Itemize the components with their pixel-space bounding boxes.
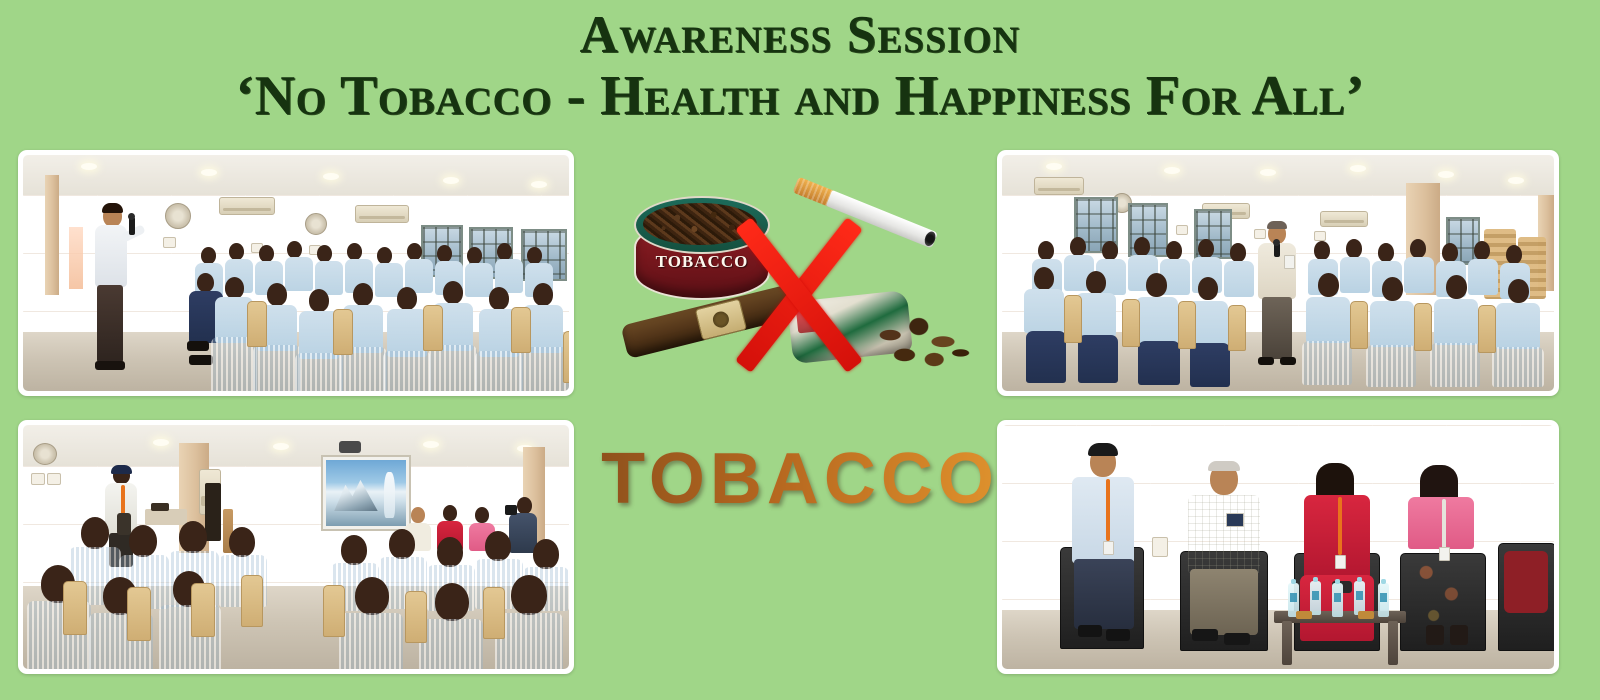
photo-top-left <box>18 150 574 396</box>
awareness-session-banner: Awareness Session ‘No Tobacco ‐ Health a… <box>0 0 1600 700</box>
tobacco-wordmark: TOBACCO <box>0 443 1600 515</box>
red-cross-mark-icon <box>704 204 894 386</box>
photo-top-left-image <box>23 155 569 391</box>
photo-top-right-image <box>1002 155 1554 391</box>
page-subtitle: ‘No Tobacco ‐ Health and Happiness For A… <box>0 67 1600 125</box>
photo-top-right <box>997 150 1559 396</box>
banner-header: Awareness Session ‘No Tobacco ‐ Health a… <box>0 8 1600 125</box>
page-title: Awareness Session <box>0 8 1600 63</box>
no-tobacco-illustration: TOBACCO <box>612 186 982 404</box>
